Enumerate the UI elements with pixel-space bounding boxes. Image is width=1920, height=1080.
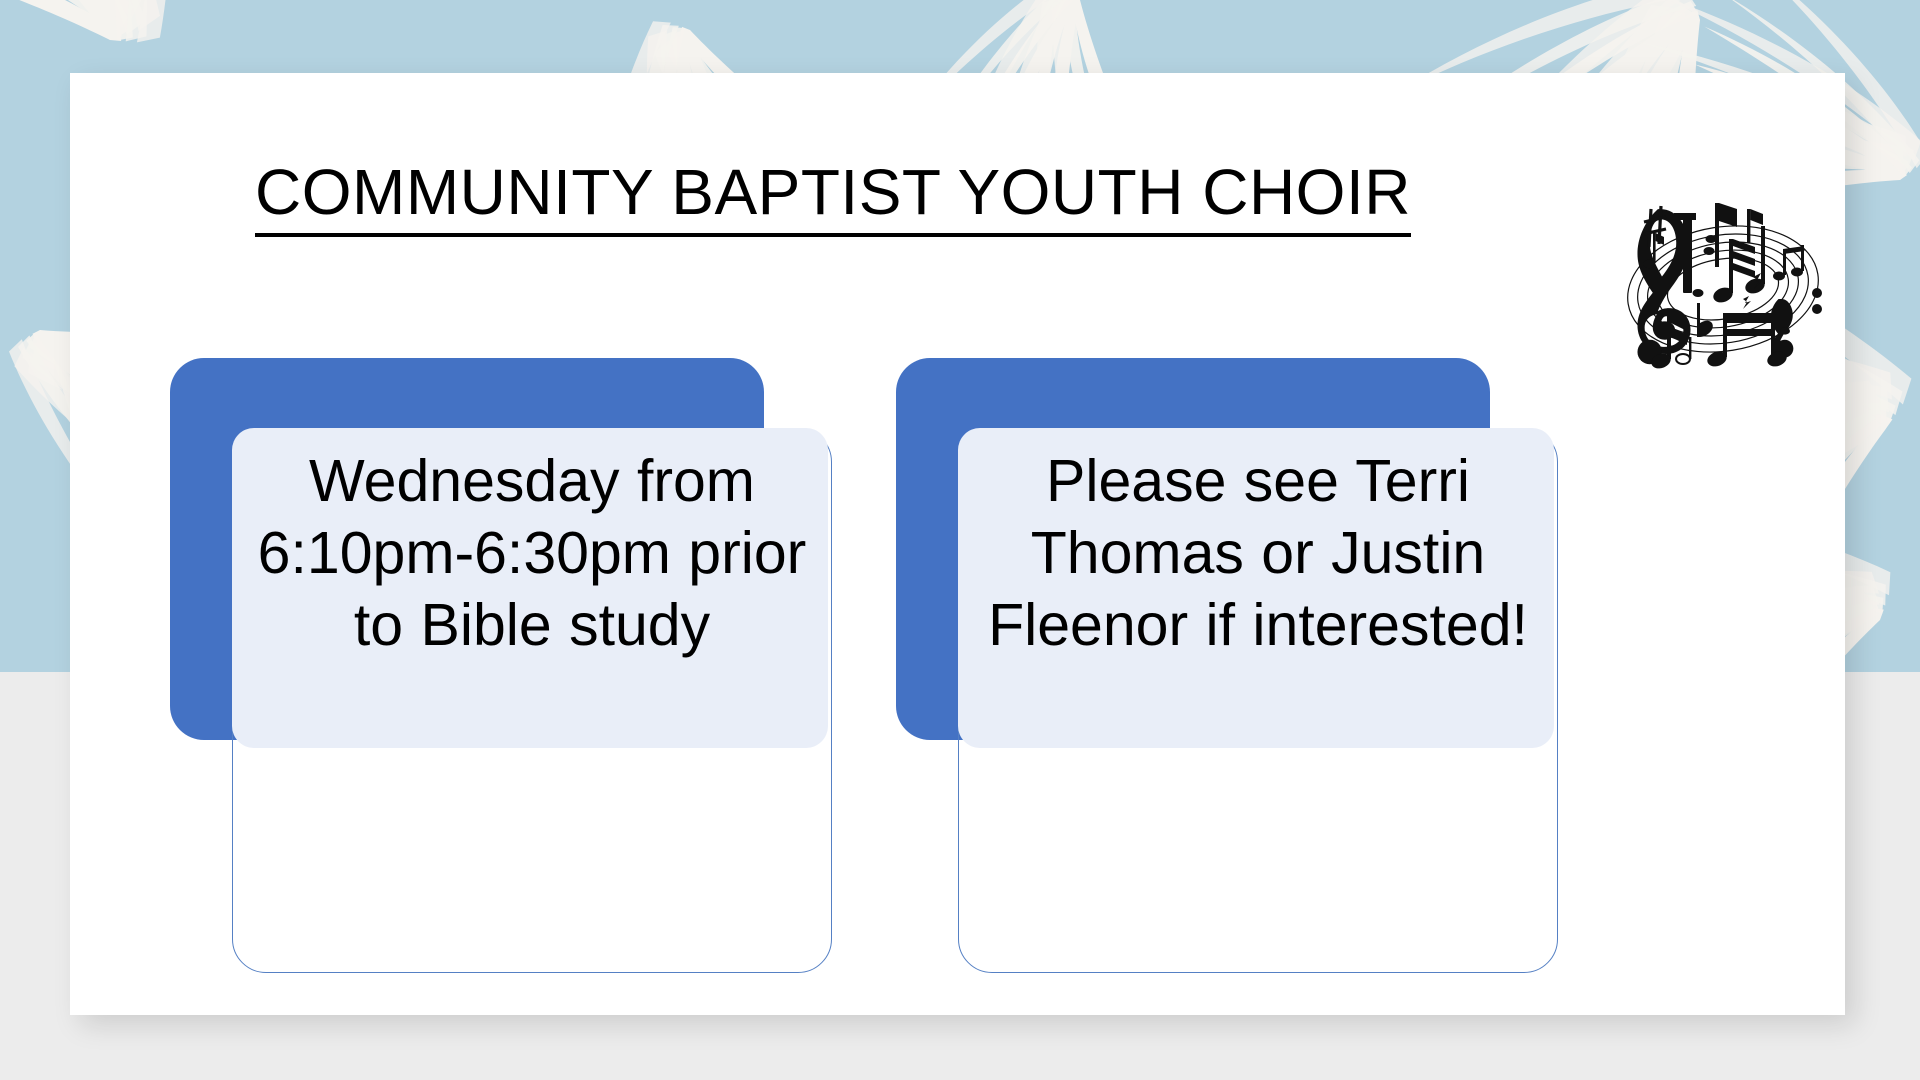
- contact-text: Please see Terri Thomas or Justin Fleeno…: [972, 446, 1544, 662]
- music-notes-icon: [1595, 181, 1845, 386]
- page-title-text: COMMUNITY BAPTIST YOUTH CHOIR: [255, 160, 1411, 237]
- content-block-contact: Please see Terri Thomas or Justin Fleeno…: [888, 358, 1568, 983]
- content-block-schedule: Wednesday from 6:10pm-6:30pm prior to Bi…: [170, 358, 850, 983]
- slide-card: COMMUNITY BAPTIST YOUTH CHOIR: [70, 73, 1845, 1015]
- slide-stage: COMMUNITY BAPTIST YOUTH CHOIR: [0, 0, 1920, 1080]
- page-title: COMMUNITY BAPTIST YOUTH CHOIR: [255, 141, 1505, 237]
- text-card-body: Wednesday from 6:10pm-6:30pm prior to Bi…: [232, 428, 832, 973]
- schedule-text: Wednesday from 6:10pm-6:30pm prior to Bi…: [246, 446, 818, 662]
- text-card-body: Please see Terri Thomas or Justin Fleeno…: [958, 428, 1558, 973]
